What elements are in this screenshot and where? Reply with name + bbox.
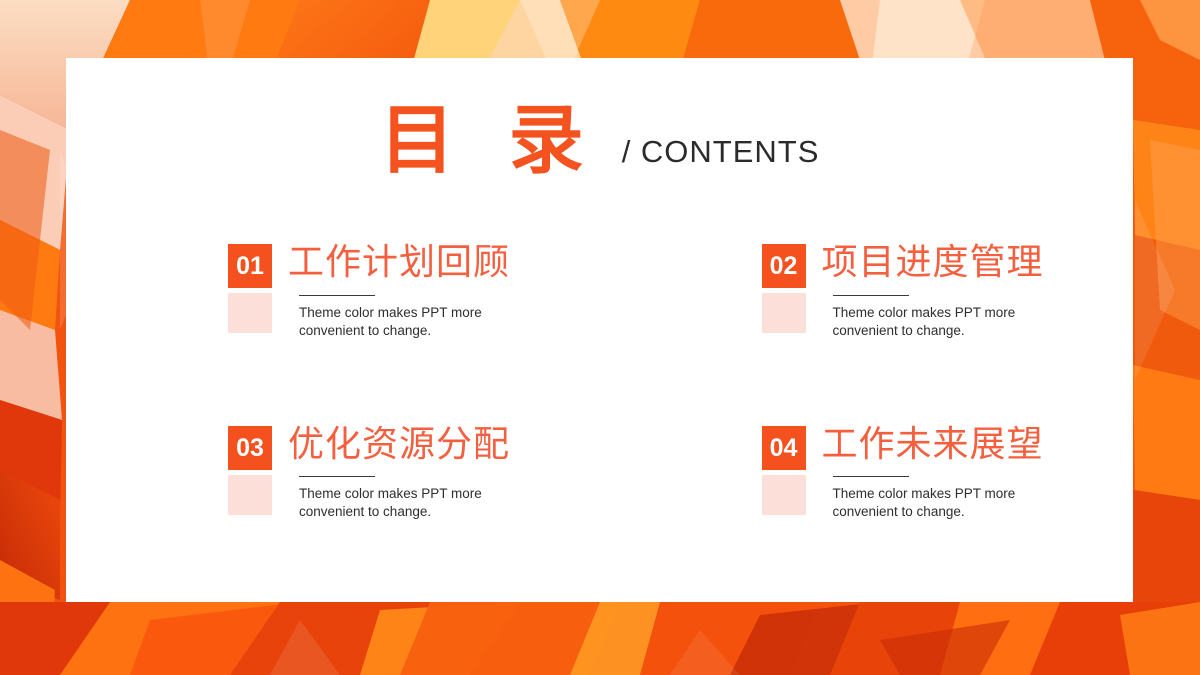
item-title: 工作计划回顾 — [288, 244, 600, 283]
item-divider — [299, 295, 375, 296]
item-body: 工作计划回顾 Theme color makes PPT more conven… — [288, 244, 600, 340]
item-description: Theme color makes PPT more convenient to… — [299, 304, 600, 340]
item-divider — [833, 295, 909, 296]
page-title-cn: 目 录 — [380, 103, 598, 178]
contents-item-04[interactable]: 04 工作未来展望 Theme color makes PPT more con… — [600, 426, 1134, 522]
item-title: 优化资源分配 — [288, 426, 600, 465]
badge-accent-block — [762, 475, 806, 515]
badge-accent-block — [762, 293, 806, 333]
badge-stack: 01 — [228, 244, 272, 333]
item-description: Theme color makes PPT more convenient to… — [299, 485, 600, 521]
item-divider — [833, 476, 909, 477]
slide-canvas: 目 录 / CONTENTS 01 工作计划回顾 Theme color mak… — [0, 0, 1200, 675]
badge-accent-block — [228, 293, 272, 333]
item-body: 工作未来展望 Theme color makes PPT more conven… — [822, 426, 1134, 522]
item-body: 优化资源分配 Theme color makes PPT more conven… — [288, 426, 600, 522]
item-number-badge: 03 — [228, 426, 272, 470]
badge-accent-block — [228, 475, 272, 515]
item-description: Theme color makes PPT more convenient to… — [833, 304, 1134, 340]
item-number-badge: 02 — [762, 244, 806, 288]
item-number-badge: 01 — [228, 244, 272, 288]
page-title-en: / CONTENTS — [622, 134, 820, 170]
item-description: Theme color makes PPT more convenient to… — [833, 485, 1134, 521]
page-title: 目 录 / CONTENTS — [66, 103, 1133, 178]
badge-stack: 04 — [762, 426, 806, 515]
badge-stack: 02 — [762, 244, 806, 333]
item-number-badge: 04 — [762, 426, 806, 470]
item-divider — [299, 476, 375, 477]
item-body: 项目进度管理 Theme color makes PPT more conven… — [822, 244, 1134, 340]
contents-item-03[interactable]: 03 优化资源分配 Theme color makes PPT more con… — [66, 426, 600, 522]
item-title: 工作未来展望 — [822, 426, 1134, 465]
contents-item-01[interactable]: 01 工作计划回顾 Theme color makes PPT more con… — [66, 244, 600, 340]
badge-stack: 03 — [228, 426, 272, 515]
contents-list: 01 工作计划回顾 Theme color makes PPT more con… — [66, 244, 1133, 521]
item-title: 项目进度管理 — [822, 244, 1134, 283]
content-card: 目 录 / CONTENTS 01 工作计划回顾 Theme color mak… — [66, 58, 1133, 602]
contents-item-02[interactable]: 02 项目进度管理 Theme color makes PPT more con… — [600, 244, 1134, 340]
